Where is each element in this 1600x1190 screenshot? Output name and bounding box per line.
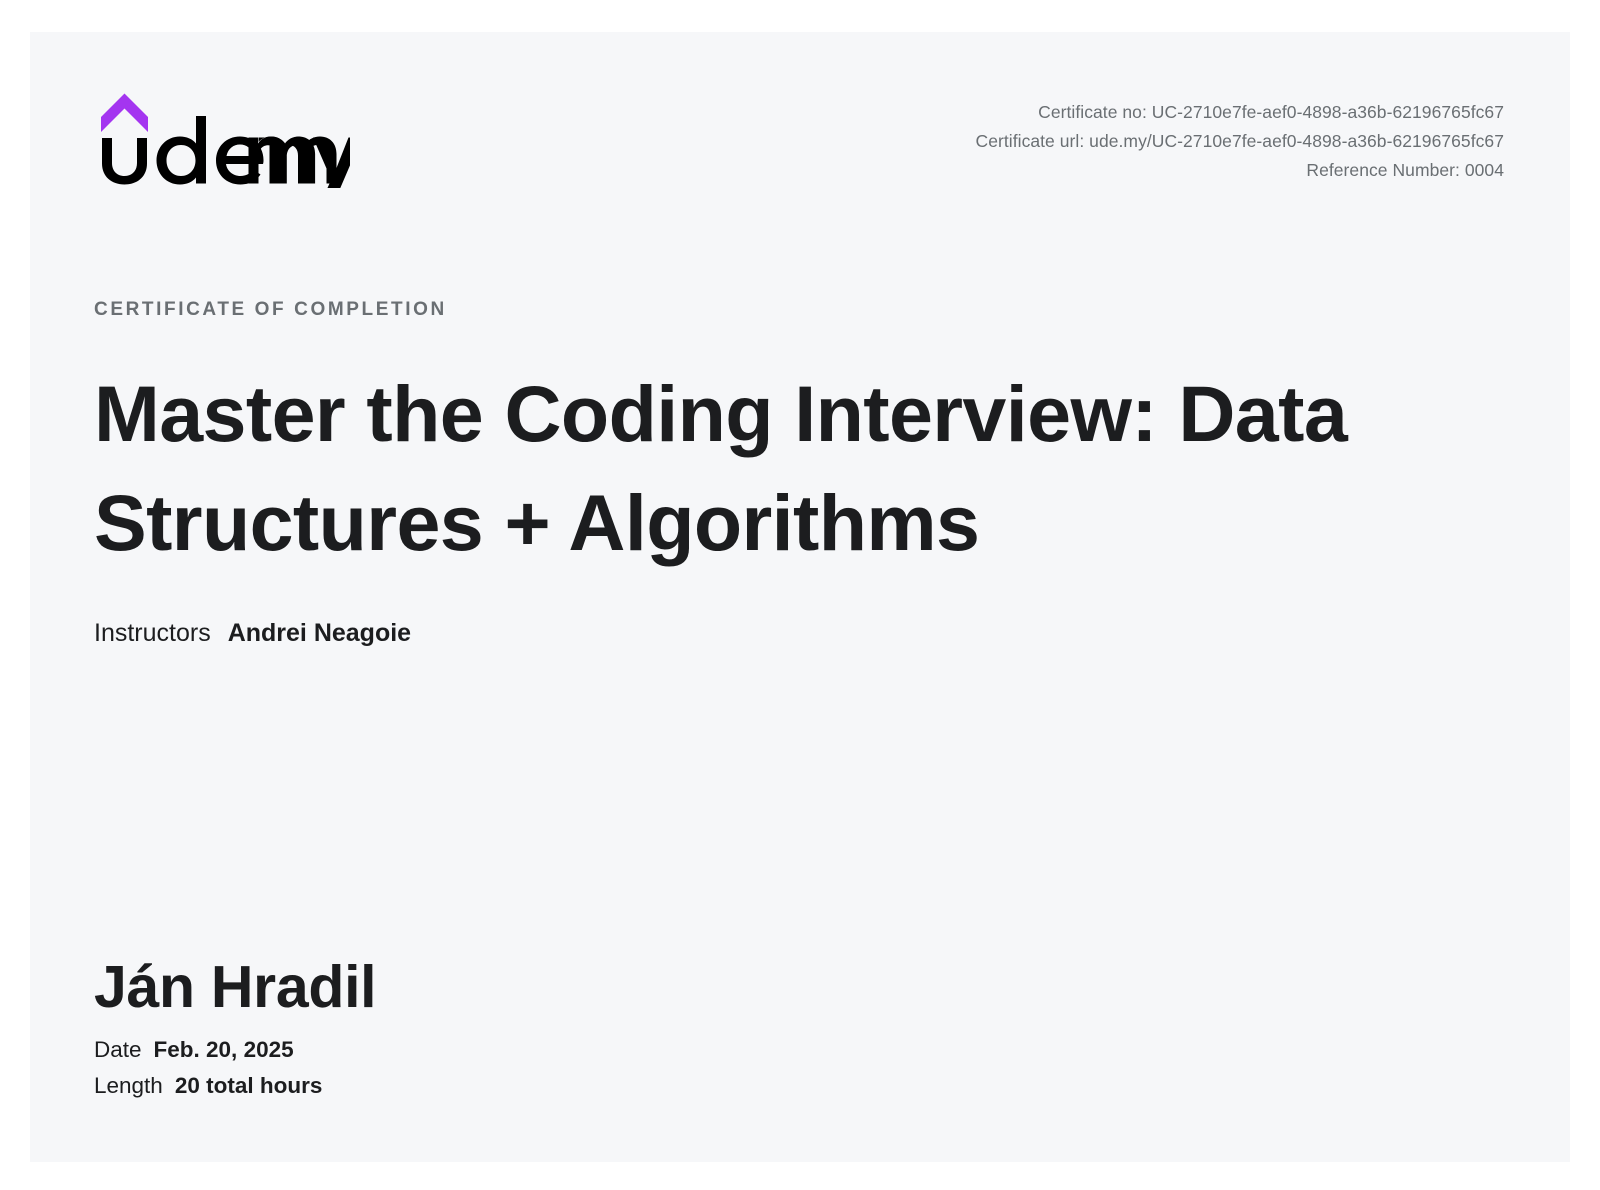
udemy-letter-m-body xyxy=(249,137,316,184)
length-row: Length 20 total hours xyxy=(94,1068,1506,1104)
certificate-panel: Certificate no: UC-2710e7fe-aef0-4898-a3… xyxy=(30,32,1570,1162)
recipient-block: Ján Hradil Date Feb. 20, 2025 Length 20 … xyxy=(94,954,1506,1104)
udemy-logo-svg xyxy=(94,88,350,188)
length-label: Length xyxy=(94,1068,163,1104)
certificate-header: Certificate no: UC-2710e7fe-aef0-4898-a3… xyxy=(94,88,1504,188)
udemy-caret-icon xyxy=(101,94,148,133)
udemy-letter-d xyxy=(157,116,207,185)
udemy-letter-u xyxy=(102,138,147,185)
instructors-value: Andrei Neagoie xyxy=(228,617,411,650)
certificate-page: Certificate no: UC-2710e7fe-aef0-4898-a3… xyxy=(0,0,1600,1190)
certificate-url-text: Certificate url: ude.my/UC-2710e7fe-aef0… xyxy=(976,127,1504,156)
instructors-row: Instructors Andrei Neagoie xyxy=(94,617,1506,650)
instructors-label: Instructors xyxy=(94,617,211,650)
length-value: 20 total hours xyxy=(175,1068,323,1104)
date-label: Date xyxy=(94,1032,142,1068)
course-title: Master the Coding Interview: Data Struct… xyxy=(94,359,1424,577)
reference-number-text: Reference Number: 0004 xyxy=(976,156,1504,185)
certificate-kicker-label: CERTIFICATE OF COMPLETION xyxy=(94,300,1506,319)
date-value: Feb. 20, 2025 xyxy=(154,1032,294,1068)
udemy-logo[interactable] xyxy=(94,88,350,188)
certificate-meta-block: Certificate no: UC-2710e7fe-aef0-4898-a3… xyxy=(976,88,1504,185)
certificate-number-text: Certificate no: UC-2710e7fe-aef0-4898-a3… xyxy=(976,98,1504,127)
recipient-name: Ján Hradil xyxy=(94,954,1506,1020)
certificate-body: CERTIFICATE OF COMPLETION Master the Cod… xyxy=(94,300,1506,650)
date-row: Date Feb. 20, 2025 xyxy=(94,1032,1506,1068)
